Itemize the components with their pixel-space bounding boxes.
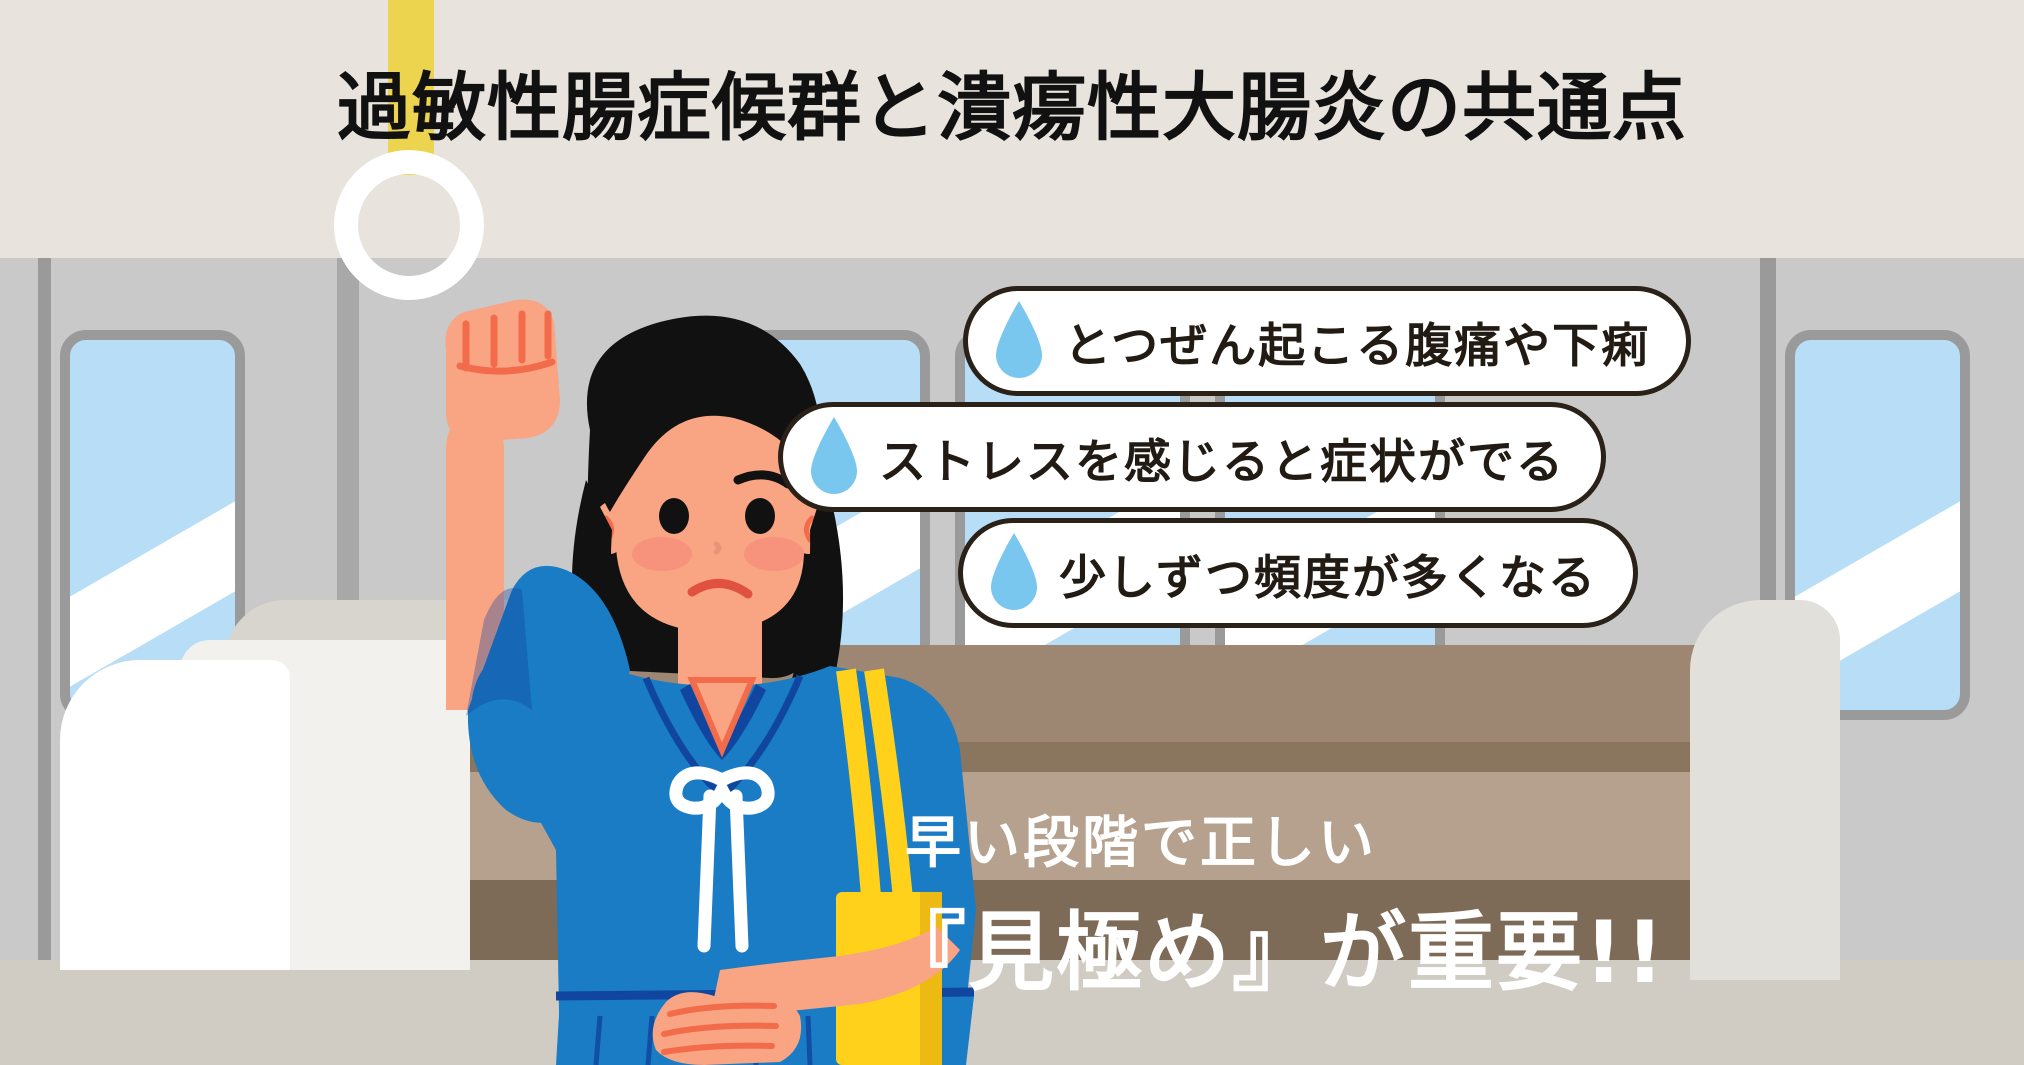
symptom-bubble-1[interactable]: とつぜん起こる腹痛や下痢 (963, 286, 1691, 396)
bottom-message-line-2: 『見極め』が重要!! (880, 882, 1666, 1007)
bottom-message-line-1: 早い段階で正しい (905, 798, 1377, 879)
cheek-right (744, 537, 804, 571)
symptom-bubble-1-label: とつぜん起こる腹痛や下痢 (1064, 307, 1650, 376)
eye-right (745, 498, 775, 534)
water-drop-icon (807, 415, 861, 499)
symptom-bubble-2[interactable]: ストレスを感じると症状がでる (778, 402, 1606, 512)
train-pole-left (38, 258, 51, 1065)
water-drop-icon (987, 531, 1041, 615)
page-title: 過敏性腸症候群と潰瘍性大腸炎の共通点 (0, 48, 2024, 155)
infographic-canvas: 過敏性腸症候群と潰瘍性大腸炎の共通点 とつぜん起こる腹痛や下痢 ストレスを感じる… (0, 0, 2024, 1065)
seat-partition-right (1690, 600, 1840, 980)
water-drop-icon (992, 299, 1046, 383)
symptom-bubble-3-label: 少しずつ頻度が多くなる (1059, 539, 1597, 608)
eye-left (659, 498, 689, 534)
cheek-left (632, 537, 692, 571)
symptom-bubble-3[interactable]: 少しずつ頻度が多くなる (958, 518, 1638, 628)
symptom-bubble-2-label: ストレスを感じると症状がでる (879, 423, 1565, 492)
seat-partition-left-panel (60, 660, 290, 970)
